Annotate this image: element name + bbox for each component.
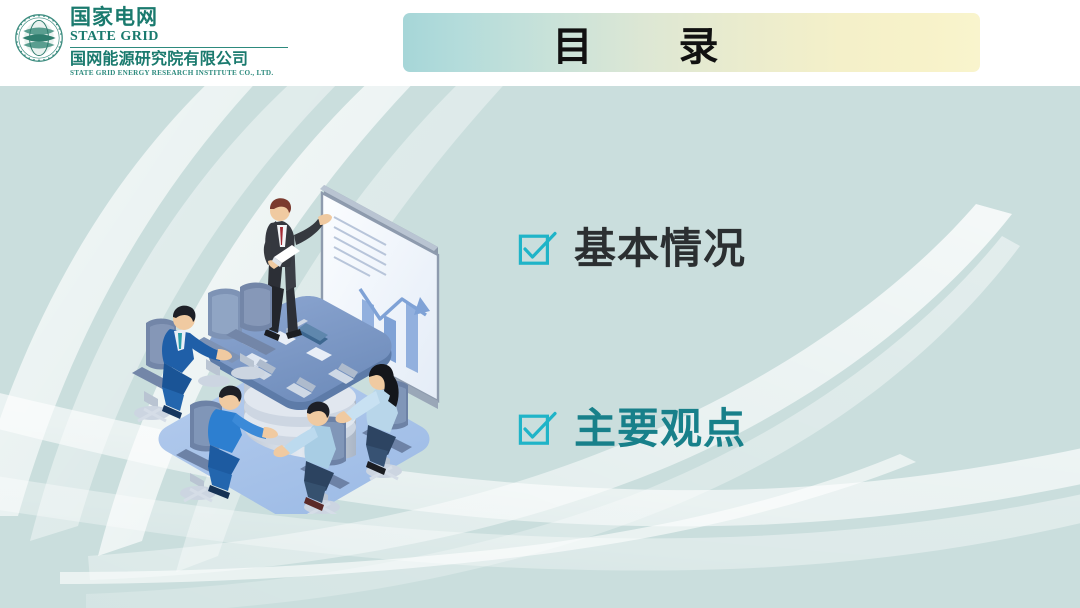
agenda-item-2[interactable]: 主要观点 <box>518 406 746 452</box>
agenda-item-1-label: 基本情况 <box>574 226 746 272</box>
agenda-item-1[interactable]: 基本情况 <box>518 226 746 272</box>
checkbox-checked-icon <box>518 232 552 266</box>
brand-name-cn: 国家电网 <box>70 6 295 29</box>
brand-subsidiary-en: STATE GRID ENERGY RESEARCH INSTITUTE CO.… <box>70 68 295 78</box>
brand-name-en: STATE GRID <box>70 29 295 45</box>
checkbox-checked-icon <box>518 412 552 446</box>
isometric-business-meeting-illustration <box>108 169 468 514</box>
presentation-slide: 国家电网 STATE GRID 国网能源研究院有限公司 STATE GRID E… <box>0 0 1080 608</box>
slide-body: 基本情况 主要观点 <box>0 86 1080 608</box>
brand-text-group: 国家电网 STATE GRID 国网能源研究院有限公司 STATE GRID E… <box>70 6 295 78</box>
brand-divider <box>70 47 288 48</box>
agenda-menu: 基本情况 主要观点 <box>518 86 948 608</box>
page-title-text: 目 录 <box>553 14 721 72</box>
slide-header: 国家电网 STATE GRID 国网能源研究院有限公司 STATE GRID E… <box>0 0 1080 86</box>
brand-logo-block: 国家电网 STATE GRID 国网能源研究院有限公司 STATE GRID E… <box>8 4 298 82</box>
brand-subsidiary-cn: 国网能源研究院有限公司 <box>70 50 295 68</box>
page-title: 1 目 录 <box>403 13 980 72</box>
state-grid-globe-logo-icon <box>14 13 64 63</box>
agenda-item-2-label: 主要观点 <box>574 406 746 452</box>
